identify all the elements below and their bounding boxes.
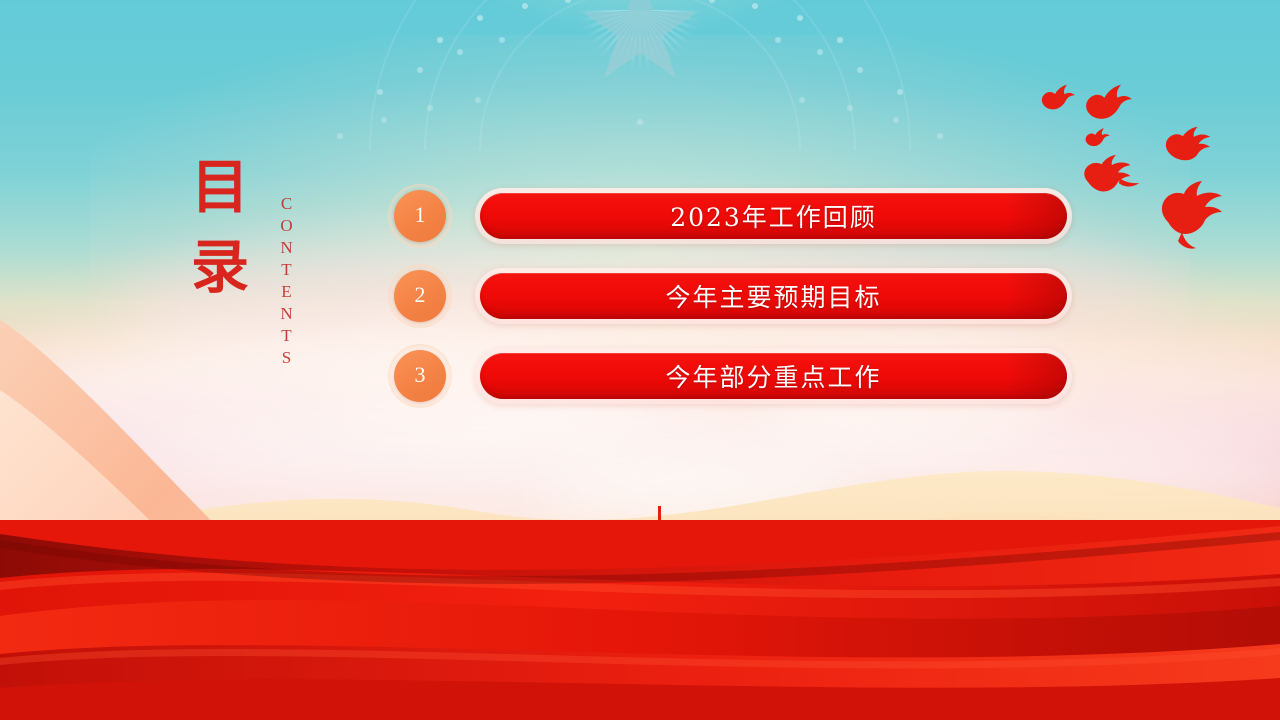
title-char-1: 目	[170, 158, 270, 216]
number-circle-label-2: 2	[394, 270, 446, 322]
contents-menu: 1 2023年工作回顾 2 今年主要预期目标	[392, 188, 1092, 404]
pill-body[interactable]: 2023年工作回顾	[480, 193, 1067, 239]
contents-item-1[interactable]: 1 2023年工作回顾	[392, 188, 1092, 244]
item-label-1: 2023年工作回顾	[670, 198, 877, 234]
number-circle-label-1: 1	[394, 190, 446, 242]
title-english: CONTENTS	[278, 194, 295, 370]
item-pill-3[interactable]: 今年部分重点工作	[475, 348, 1072, 404]
item-pill-2[interactable]: 今年主要预期目标	[475, 268, 1072, 324]
item-label-3: 今年部分重点工作	[665, 358, 881, 394]
item-label-2: 今年主要预期目标	[665, 278, 881, 314]
contents-item-2[interactable]: 2 今年主要预期目标	[392, 268, 1092, 324]
page-title: 目 录 CONTENTS	[150, 158, 330, 358]
title-chinese: 目 录	[170, 158, 270, 296]
presentation-slide: 目 录 CONTENTS 1 2023年工作回顾 2	[0, 0, 1280, 720]
title-char-2: 录	[170, 238, 270, 296]
pill-body[interactable]: 今年部分重点工作	[480, 353, 1067, 399]
red-ribbon-icon	[0, 520, 1280, 720]
item-number-badge-2[interactable]: 2	[392, 268, 448, 324]
item-number-badge-1[interactable]: 1	[392, 188, 448, 244]
item-number-badge-3[interactable]: 3	[392, 348, 448, 404]
item-pill-1[interactable]: 2023年工作回顾	[475, 188, 1072, 244]
pill-body[interactable]: 今年主要预期目标	[480, 273, 1067, 319]
contents-item-3[interactable]: 3 今年部分重点工作	[392, 348, 1092, 404]
number-circle-label-3: 3	[394, 350, 446, 402]
